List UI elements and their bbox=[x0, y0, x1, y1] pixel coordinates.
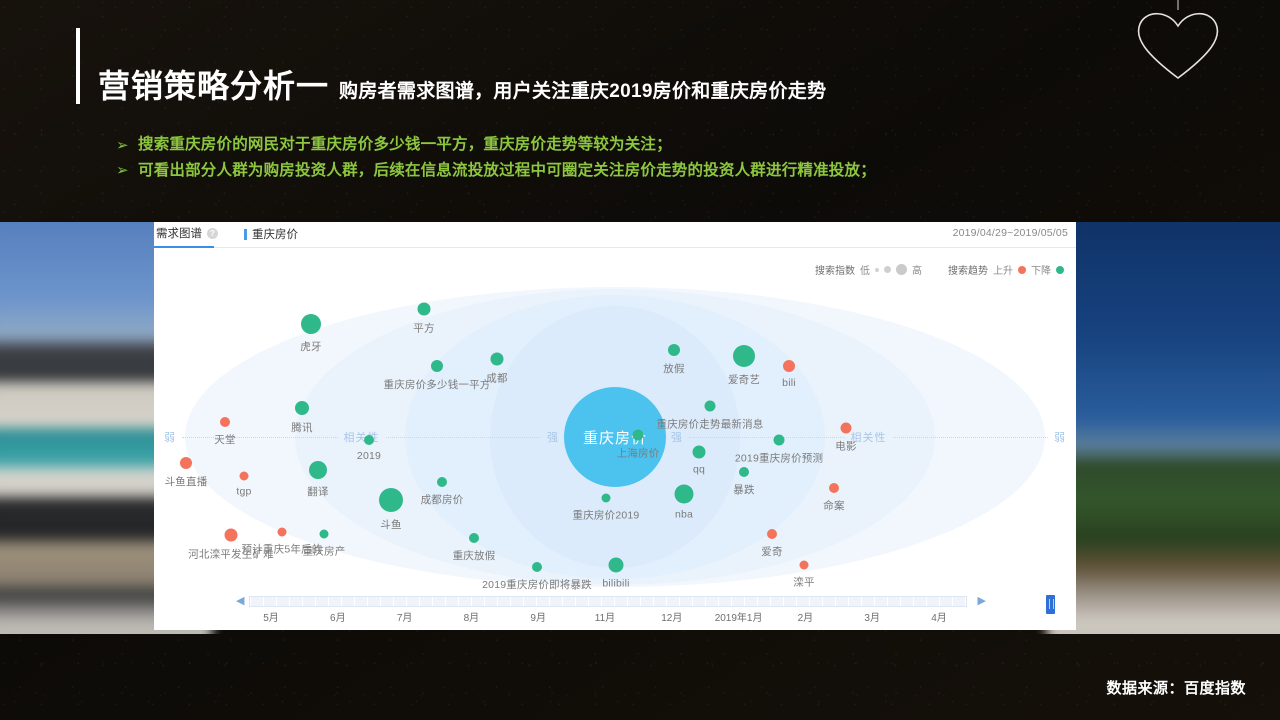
graph-node-label: 重庆房价走势最新消息 bbox=[657, 417, 764, 432]
bullet-item: ➢ 搜索重庆房价的网民对于重庆房价多少钱一平方，重庆房价走势等较为关注； bbox=[116, 136, 876, 155]
graph-node-label: 重庆房产 bbox=[303, 544, 346, 559]
graph-node-bubble bbox=[431, 360, 443, 372]
axis-dots-left-a bbox=[182, 437, 338, 438]
arrow-bullet-icon: ➢ bbox=[116, 163, 138, 178]
axis-dots-right-a bbox=[689, 437, 845, 438]
graph-node-label: 重庆房价多少钱一平方 bbox=[384, 377, 491, 392]
graph-node-bubble bbox=[320, 530, 329, 539]
graph-node-bubble bbox=[295, 401, 309, 415]
timeline-month-label[interactable]: 12月 bbox=[661, 609, 682, 624]
title-subtitle: 购房者需求图谱，用户关注重庆2019房价和重庆房价走势 bbox=[339, 82, 826, 104]
legend-down-label: 下降 bbox=[1031, 262, 1051, 277]
graph-node[interactable]: 命案 bbox=[829, 483, 839, 493]
keyword-chip[interactable]: 重庆房价 bbox=[244, 226, 298, 242]
timeline-next-icon[interactable]: ▶ bbox=[978, 594, 986, 607]
graph-node[interactable]: 腾讯 bbox=[295, 401, 309, 415]
timeline-labels: 5月6月7月8月9月11月12月2019年1月2月3月4月 bbox=[249, 609, 967, 625]
graph-node-label: 电影 bbox=[835, 439, 856, 454]
graph-node[interactable]: qq bbox=[693, 446, 706, 459]
graph-node-bubble bbox=[301, 314, 321, 334]
graph-node[interactable]: 暴跌 bbox=[739, 467, 749, 477]
graph-node-label: 暴跌 bbox=[733, 482, 754, 497]
legend-low-label: 低 bbox=[860, 262, 870, 277]
data-source-label: 数据来源：百度指数 bbox=[1106, 677, 1246, 698]
graph-node-label: 平方 bbox=[413, 321, 434, 336]
axis-strong-label-left: 强 bbox=[547, 429, 559, 445]
graph-node[interactable]: 电影 bbox=[841, 423, 852, 434]
graph-node[interactable]: 平方 bbox=[418, 303, 431, 316]
graph-node[interactable]: 重庆房价多少钱一平方 bbox=[431, 360, 443, 372]
timeline-prev-icon[interactable]: ◀ bbox=[236, 594, 244, 607]
timeline-month-label[interactable]: 2019年1月 bbox=[715, 609, 763, 624]
tab-demand-graph[interactable]: 需求图谱 ? bbox=[156, 225, 218, 241]
axis-dots-left-b bbox=[386, 437, 542, 438]
graph-node[interactable]: 爱奇艺 bbox=[733, 345, 755, 367]
graph-node[interactable]: 2019 bbox=[364, 435, 374, 445]
graph-node-bubble bbox=[379, 488, 403, 512]
graph-node-label: 命案 bbox=[823, 498, 844, 513]
graph-node[interactable]: 天堂 bbox=[220, 417, 230, 427]
axis-weak-label-right: 弱 bbox=[1054, 429, 1066, 445]
timeline-track[interactable] bbox=[249, 596, 967, 607]
graph-node-bubble bbox=[469, 533, 479, 543]
title-main: 营销策略分析一 bbox=[98, 70, 329, 104]
graph-node-bubble bbox=[633, 430, 644, 441]
graph-node[interactable]: 放假 bbox=[668, 344, 680, 356]
graph-node[interactable]: bili bbox=[783, 360, 795, 372]
graph-node-bubble bbox=[767, 529, 777, 539]
timeline-month-label[interactable]: 9月 bbox=[530, 609, 546, 624]
graph-node-label: 爱奇艺 bbox=[728, 372, 760, 387]
legend-dot-down-icon bbox=[1056, 266, 1064, 274]
graph-node-label: 翻译 bbox=[307, 484, 328, 499]
graph-node-label: 成都 bbox=[486, 371, 507, 386]
demand-graph-canvas: 弱 相关性 强 强 相关性 弱 重庆房价 虎牙平方重庆房价多少钱一平方成都腾讯天… bbox=[154, 282, 1076, 592]
graph-node-bubble bbox=[225, 529, 238, 542]
help-icon[interactable]: ? bbox=[207, 228, 218, 239]
timeline-month-label[interactable]: 5月 bbox=[263, 609, 279, 624]
graph-node[interactable]: tgp bbox=[240, 472, 249, 481]
graph-node-bubble bbox=[609, 558, 624, 573]
graph-node-bubble bbox=[774, 435, 785, 446]
graph-node-label: 天堂 bbox=[214, 432, 235, 447]
graph-node-label: 斗鱼 bbox=[380, 517, 401, 532]
graph-node-bubble bbox=[675, 485, 694, 504]
date-range-label[interactable]: 2019/04/29~2019/05/05 bbox=[953, 227, 1068, 239]
page-title: 营销策略分析一 购房者需求图谱，用户关注重庆2019房价和重庆房价走势 bbox=[76, 28, 826, 104]
graph-node-bubble bbox=[437, 477, 447, 487]
graph-node-label: 重庆房价2019 bbox=[573, 508, 640, 523]
keyword-label: 重庆房价 bbox=[252, 226, 298, 242]
graph-node[interactable]: 2019重庆房价即将暴跌 bbox=[532, 562, 542, 572]
graph-node-label: qq bbox=[693, 464, 705, 476]
timeline-month-label[interactable]: 2月 bbox=[798, 609, 814, 624]
graph-node[interactable]: 斗鱼直播 bbox=[180, 457, 192, 469]
timeline-month-label[interactable]: 8月 bbox=[464, 609, 480, 624]
graph-node-label: 斗鱼直播 bbox=[165, 474, 208, 489]
legend-dot-medium-icon bbox=[884, 266, 891, 273]
graph-node-bubble bbox=[668, 344, 680, 356]
graph-node[interactable]: 滦平 bbox=[800, 561, 809, 570]
graph-node-bubble bbox=[364, 435, 374, 445]
bullet-item: ➢ 可看出部分人群为购房投资人群，后续在信息流投放过程中可圈定关注房价走势的投资… bbox=[116, 162, 876, 181]
legend-dot-small-icon bbox=[875, 268, 879, 272]
graph-node-bubble bbox=[180, 457, 192, 469]
chart-legend: 搜索指数 低 高 搜索趋势 上升 下降 bbox=[815, 262, 1064, 277]
graph-node-bubble bbox=[693, 446, 706, 459]
graph-node-label: bilibili bbox=[602, 578, 629, 590]
graph-node-bubble bbox=[309, 461, 327, 479]
graph-node-label: 2019重庆房价预测 bbox=[735, 451, 823, 466]
timeline-control[interactable]: ◀ ▶ 5月6月7月8月9月11月12月2019年1月2月3月4月 bbox=[154, 592, 1076, 630]
legend-dot-up-icon bbox=[1018, 266, 1026, 274]
graph-node-bubble bbox=[491, 353, 504, 366]
graph-node-label: 爱奇 bbox=[761, 544, 782, 559]
bullet-text: 搜索重庆房价的网民对于重庆房价多少钱一平方，重庆房价走势等较为关注； bbox=[138, 136, 672, 155]
bullet-text: 可看出部分人群为购房投资人群，后续在信息流投放过程中可圈定关注房价走势的投资人群… bbox=[138, 162, 876, 181]
graph-node-bubble bbox=[783, 360, 795, 372]
title-rule bbox=[76, 28, 80, 104]
graph-node-bubble bbox=[532, 562, 542, 572]
background-photo-right bbox=[1047, 222, 1280, 634]
graph-node[interactable]: 重庆房价走势最新消息 bbox=[705, 401, 716, 412]
graph-node-label: tgp bbox=[236, 486, 251, 498]
graph-node-bubble bbox=[739, 467, 749, 477]
slide-root: 营销策略分析一 购房者需求图谱，用户关注重庆2019房价和重庆房价走势 ➢ 搜索… bbox=[0, 0, 1280, 720]
graph-node[interactable]: 虎牙 bbox=[301, 314, 321, 334]
legend-search-trend-title: 搜索趋势 bbox=[948, 262, 988, 277]
center-node[interactable]: 重庆房价 bbox=[564, 387, 666, 487]
legend-search-index: 搜索指数 低 高 bbox=[815, 262, 922, 277]
graph-node[interactable]: 2019重庆房价预测 bbox=[774, 435, 785, 446]
heart-decoration bbox=[1128, 0, 1228, 82]
legend-search-index-title: 搜索指数 bbox=[815, 262, 855, 277]
graph-node-label: 滦平 bbox=[793, 575, 814, 590]
graph-node[interactable]: nba bbox=[675, 485, 694, 504]
graph-node-bubble bbox=[733, 345, 755, 367]
axis-weak-label-left: 弱 bbox=[164, 429, 176, 445]
graph-node-label: 重庆放假 bbox=[453, 548, 496, 563]
graph-node[interactable]: 河北滦平发生矿难 bbox=[225, 529, 238, 542]
timeline-month-label[interactable]: 4月 bbox=[931, 609, 947, 624]
graph-node-label: 放假 bbox=[663, 361, 684, 376]
graph-node[interactable]: 重庆放假 bbox=[469, 533, 479, 543]
graph-node-bubble bbox=[220, 417, 230, 427]
legend-up-label: 上升 bbox=[993, 262, 1013, 277]
graph-node[interactable]: 斗鱼 bbox=[379, 488, 403, 512]
panel-header: 需求图谱 ? 重庆房价 2019/04/29~2019/05/05 bbox=[154, 222, 1076, 248]
baidu-index-panel: 需求图谱 ? 重庆房价 2019/04/29~2019/05/05 搜索指数 低… bbox=[154, 222, 1076, 630]
graph-node-label: bili bbox=[782, 377, 796, 389]
timeline-month-label[interactable]: 3月 bbox=[864, 609, 880, 624]
graph-node-label: 虎牙 bbox=[300, 339, 321, 354]
graph-node[interactable]: 成都 bbox=[491, 353, 504, 366]
graph-node-label: 成都房价 bbox=[421, 492, 464, 507]
graph-node-bubble bbox=[841, 423, 852, 434]
graph-node[interactable]: 重庆房价2019 bbox=[602, 494, 611, 503]
graph-node-bubble bbox=[705, 401, 716, 412]
arrow-bullet-icon: ➢ bbox=[116, 138, 138, 153]
legend-high-label: 高 bbox=[912, 262, 922, 277]
graph-node-label: nba bbox=[675, 509, 693, 521]
timeline-month-label[interactable]: 11月 bbox=[595, 609, 615, 624]
graph-node-bubble bbox=[829, 483, 839, 493]
graph-node[interactable]: 成都房价 bbox=[437, 477, 447, 487]
timeline-handle[interactable] bbox=[1046, 595, 1055, 614]
legend-search-trend: 搜索趋势 上升 下降 bbox=[948, 262, 1064, 277]
keyword-marker-icon bbox=[244, 229, 247, 240]
legend-dot-large-icon bbox=[896, 264, 907, 275]
graph-node[interactable]: 上海房价 bbox=[633, 430, 644, 441]
graph-node[interactable]: 重庆房产 bbox=[320, 530, 329, 539]
graph-node-bubble bbox=[240, 472, 249, 481]
graph-node[interactable]: bilibili bbox=[609, 558, 624, 573]
heart-icon bbox=[1128, 6, 1228, 82]
graph-node[interactable]: 爱奇 bbox=[767, 529, 777, 539]
bullet-list: ➢ 搜索重庆房价的网民对于重庆房价多少钱一平方，重庆房价走势等较为关注； ➢ 可… bbox=[116, 136, 876, 187]
graph-node-bubble bbox=[278, 528, 287, 537]
graph-node-label: 上海房价 bbox=[617, 446, 660, 461]
graph-node-bubble bbox=[602, 494, 611, 503]
timeline-month-label[interactable]: 7月 bbox=[397, 609, 413, 624]
graph-node-label: 2019 bbox=[357, 450, 381, 462]
timeline-month-label[interactable]: 6月 bbox=[330, 609, 346, 624]
tab-demand-graph-label: 需求图谱 bbox=[156, 225, 202, 241]
axis-relevance-label-left: 相关性 bbox=[344, 429, 380, 445]
graph-node-label: 腾讯 bbox=[291, 420, 312, 435]
graph-node[interactable]: 翻译 bbox=[309, 461, 327, 479]
graph-node[interactable]: 预计重庆5年后的 bbox=[278, 528, 287, 537]
graph-node-bubble bbox=[418, 303, 431, 316]
graph-node-bubble bbox=[800, 561, 809, 570]
tab-active-underline bbox=[154, 246, 214, 248]
graph-node-label: 2019重庆房价即将暴跌 bbox=[482, 577, 592, 592]
axis-dots-right-b bbox=[893, 437, 1049, 438]
